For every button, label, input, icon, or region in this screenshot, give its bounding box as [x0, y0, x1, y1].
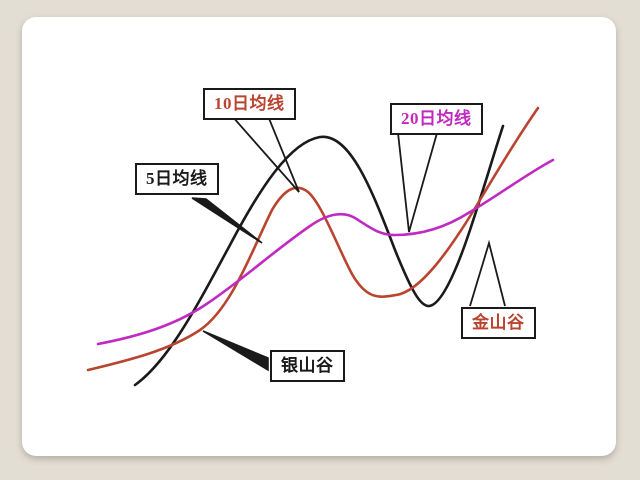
label-ma5[interactable]: 5日均线	[135, 163, 219, 195]
label-ma20[interactable]: 20日均线	[390, 103, 483, 135]
label-gold-valley[interactable]: 金山谷	[461, 307, 536, 339]
label-ma10[interactable]: 10日均线	[203, 88, 296, 120]
screenshot-stage: 5日均线 10日均线 20日均线 银山谷 金山谷	[0, 0, 640, 480]
slide-card	[22, 17, 616, 456]
label-silver-valley[interactable]: 银山谷	[270, 350, 345, 382]
